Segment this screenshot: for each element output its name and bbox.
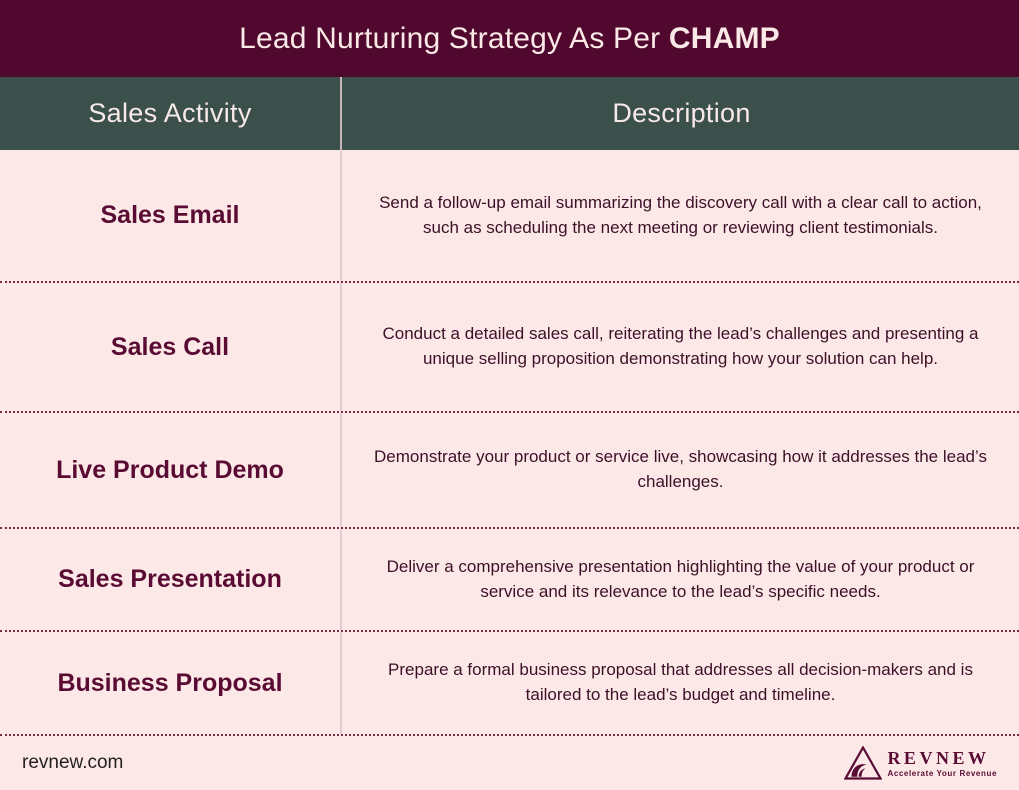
infographic-poster: Lead Nurturing Strategy As Per CHAMP Sal… [0,0,1019,790]
description-text: Demonstrate your product or service live… [366,445,995,494]
revnew-logo: REVNEW Accelerate Your Revenue [844,746,997,780]
cell-sales-activity: Sales Email [0,150,340,281]
description-text: Conduct a detailed sales call, reiterati… [366,322,995,371]
revnew-wordmark-block: REVNEW Accelerate Your Revenue [887,749,997,778]
cell-sales-activity: Business Proposal [0,632,340,734]
activity-label: Live Product Demo [56,456,284,485]
poster-title-bar: Lead Nurturing Strategy As Per CHAMP [0,0,1019,77]
cell-sales-activity: Sales Presentation [0,529,340,630]
activity-label: Sales Presentation [58,565,282,594]
page-title-prefix: Lead Nurturing Strategy As Per [239,22,669,55]
footer-website-url: revnew.com [22,752,123,774]
poster-footer: revnew.com REVNEW Accelerate Your Revenu… [0,736,1019,790]
description-text: Deliver a comprehensive presentation hig… [366,555,995,604]
strategy-table: Sales Activity Description Sales Email S… [0,77,1019,736]
cell-description: Conduct a detailed sales call, reiterati… [340,283,1019,411]
revnew-wordmark: REVNEW [887,749,997,767]
description-text: Send a follow-up email summarizing the d… [366,191,995,240]
description-text: Prepare a formal business proposal that … [366,658,995,707]
column-header-sales-activity: Sales Activity [0,77,340,150]
activity-label: Sales Email [101,201,240,230]
table-row: Live Product Demo Demonstrate your produ… [0,413,1019,529]
table-row: Sales Email Send a follow-up email summa… [0,150,1019,283]
table-header-row: Sales Activity Description [0,77,1019,150]
cell-sales-activity: Sales Call [0,283,340,411]
revnew-triangle-wave-icon [844,746,882,780]
cell-sales-activity: Live Product Demo [0,413,340,527]
page-title-emphasis: CHAMP [669,22,780,55]
cell-description: Demonstrate your product or service live… [340,413,1019,527]
revnew-tagline: Accelerate Your Revenue [887,770,997,778]
cell-description: Prepare a formal business proposal that … [340,632,1019,734]
page-title: Lead Nurturing Strategy As Per CHAMP [239,22,780,56]
activity-label: Business Proposal [57,669,282,698]
column-header-description: Description [340,77,1019,150]
table-row: Sales Presentation Deliver a comprehensi… [0,529,1019,632]
table-row: Business Proposal Prepare a formal busin… [0,632,1019,736]
activity-label: Sales Call [111,333,229,362]
cell-description: Send a follow-up email summarizing the d… [340,150,1019,281]
table-row: Sales Call Conduct a detailed sales call… [0,283,1019,413]
cell-description: Deliver a comprehensive presentation hig… [340,529,1019,630]
